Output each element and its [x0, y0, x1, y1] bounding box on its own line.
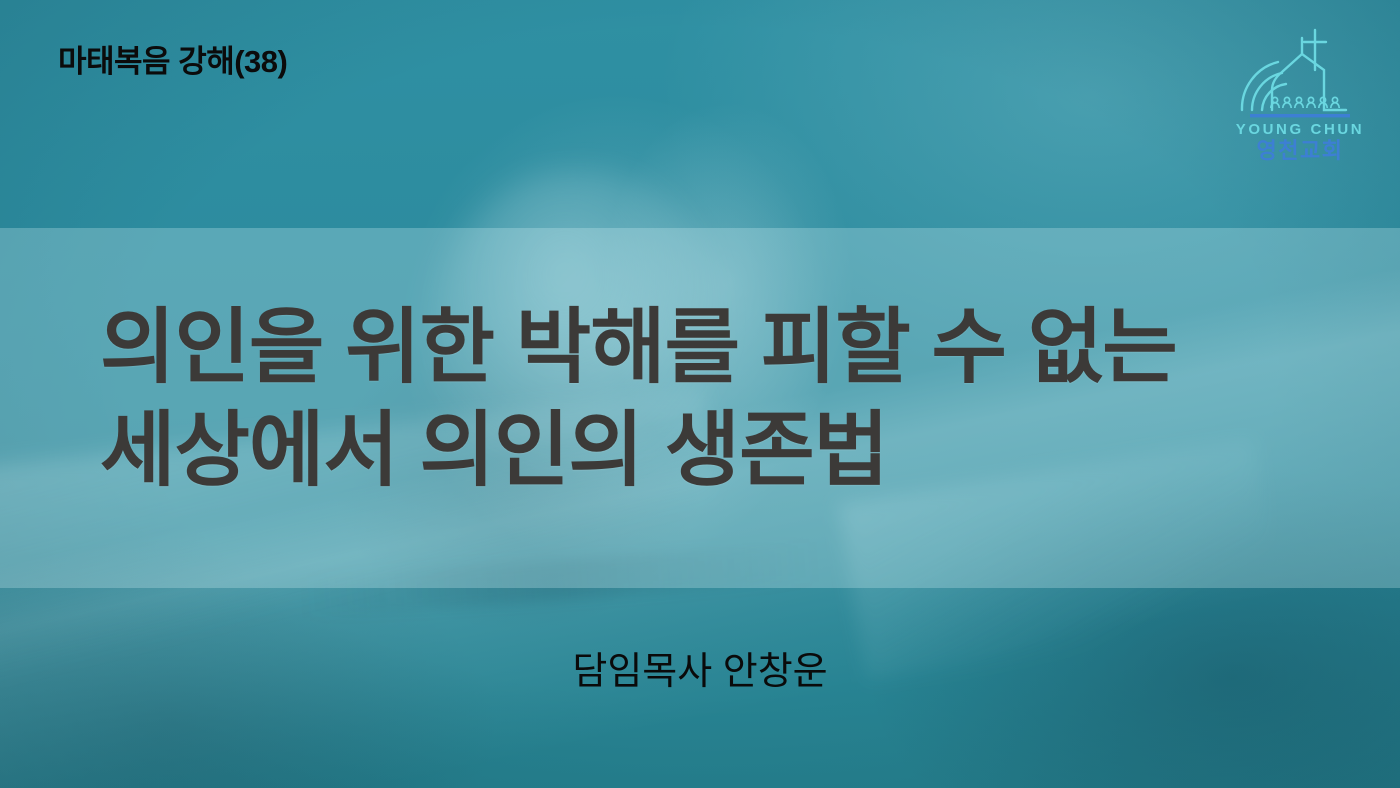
presentation-slide: 마태복음 강해(38) 의인을 위한 박해를 피할 수 없는 세상에서 의인의 …	[0, 0, 1400, 788]
logo-underline	[1250, 114, 1350, 117]
sermon-series-label: 마태복음 강해(38)	[58, 36, 287, 81]
sermon-title: 의인을 위한 박해를 피할 수 없는 세상에서 의인의 생존법	[0, 296, 1400, 503]
sound-arcs-icon	[1242, 62, 1286, 110]
church-logo: YOUNG CHUN 영천교회	[1220, 18, 1380, 178]
speaker-name: 담임목사 안창운	[0, 640, 1400, 695]
cross-icon	[1304, 30, 1326, 70]
sermon-title-line-2: 세상에서 의인의 생존법	[100, 399, 1300, 502]
logo-romanized-text: YOUNG CHUN	[1236, 121, 1365, 138]
congregation-people-icon	[1271, 97, 1339, 108]
sermon-title-line-1: 의인을 위한 박해를 피할 수 없는	[100, 296, 1300, 399]
logo-korean-text: 영천교회	[1257, 138, 1344, 163]
